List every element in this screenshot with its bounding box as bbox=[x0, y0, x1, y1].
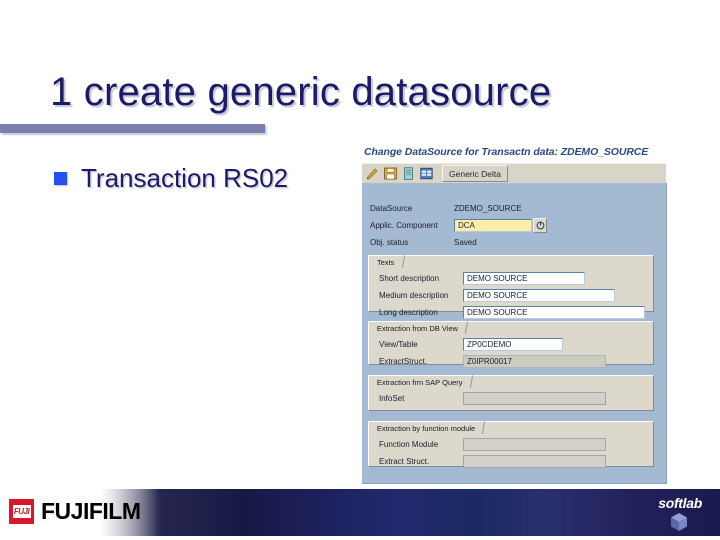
extract-struct-fm-input[interactable] bbox=[463, 455, 606, 468]
group-title: Extraction from DB View bbox=[372, 321, 468, 334]
page-title: 1 create generic datasource bbox=[50, 68, 551, 116]
field-row-applic-component: Applic. Component DCA bbox=[370, 218, 650, 232]
sap-screen-title: Change DataSource for Transactn data: ZD… bbox=[364, 146, 648, 158]
sap-screenshot-image: Change DataSource for Transactn data: ZD… bbox=[358, 146, 666, 484]
group-title: Texts bbox=[372, 255, 405, 268]
field-row-medium-description: Medium description DEMO SOURCE bbox=[379, 288, 645, 302]
field-row-extract-struct-db: ExtractStruct. Z0IPR00017 bbox=[379, 354, 645, 368]
field-value: Saved bbox=[454, 238, 477, 247]
field-label: Function Module bbox=[379, 440, 463, 449]
extract-struct-db-input[interactable]: Z0IPR00017 bbox=[463, 355, 606, 368]
infoset-input[interactable] bbox=[463, 392, 606, 405]
group-extraction-db-view: Extraction from DB View View/Table ZP0CD… bbox=[368, 321, 654, 365]
check-pencil-icon[interactable] bbox=[365, 166, 380, 181]
field-label: Long description bbox=[379, 308, 463, 317]
field-row-view-table: View/Table ZP0CDEMO bbox=[379, 337, 645, 351]
field-row-datasource: DataSource ZDEMO_SOURCE bbox=[370, 201, 650, 215]
softlab-wordmark: softlab bbox=[658, 495, 702, 511]
save-disk-icon[interactable] bbox=[383, 166, 398, 181]
group-title: Extraction by function module bbox=[372, 421, 486, 434]
field-label: Obj. status bbox=[370, 238, 454, 247]
applic-component-input[interactable]: DCA bbox=[454, 219, 532, 232]
field-label: InfoSet bbox=[379, 394, 463, 403]
view-table-input[interactable]: ZP0CDEMO bbox=[463, 338, 563, 351]
function-module-input[interactable] bbox=[463, 438, 606, 451]
group-title: Extraction frm SAP Query bbox=[372, 375, 473, 388]
field-label: Short description bbox=[379, 274, 463, 283]
fujifilm-wordmark: FUJIFILM bbox=[41, 500, 141, 523]
title-underline-rule bbox=[0, 124, 265, 133]
bullet-item-label: Transaction RS02 bbox=[81, 163, 288, 193]
field-row-function-module: Function Module bbox=[379, 437, 645, 451]
short-description-input[interactable]: DEMO SOURCE bbox=[463, 272, 585, 285]
field-row-infoset: InfoSet bbox=[379, 391, 645, 405]
fujifilm-logo: FUJI FUJIFILM bbox=[9, 499, 141, 524]
fujifilm-mark-text: FUJI bbox=[13, 505, 31, 518]
generic-delta-button[interactable]: Generic Delta bbox=[442, 165, 508, 182]
slide-footer-band: FUJI FUJIFILM softlab bbox=[0, 489, 720, 536]
field-label: Extract Struct. bbox=[379, 457, 463, 466]
group-extraction-function-module: Extraction by function module Function M… bbox=[368, 421, 654, 467]
group-texts: Texts Short description DEMO SOURCE Medi… bbox=[368, 255, 654, 312]
sap-toolbar: Generic Delta bbox=[362, 163, 666, 184]
medium-description-input[interactable]: DEMO SOURCE bbox=[463, 289, 615, 302]
softlab-logo: softlab bbox=[620, 495, 706, 533]
document-icon[interactable] bbox=[401, 166, 416, 181]
field-label: Applic. Component bbox=[370, 221, 454, 230]
field-value: ZDEMO_SOURCE bbox=[454, 204, 522, 213]
field-label: ExtractStruct. bbox=[379, 357, 463, 366]
sap-header-fields: DataSource ZDEMO_SOURCE Applic. Componen… bbox=[370, 201, 650, 252]
field-row-extract-struct-fm: Extract Struct. bbox=[379, 454, 645, 468]
table-grid-icon[interactable] bbox=[419, 166, 434, 181]
field-label: DataSource bbox=[370, 204, 454, 213]
group-extraction-sap-query: Extraction frm SAP Query InfoSet bbox=[368, 375, 654, 411]
square-bullet-icon bbox=[54, 172, 67, 185]
field-row-long-description: Long description DEMO SOURCE bbox=[379, 305, 645, 319]
field-label: Medium description bbox=[379, 291, 463, 300]
long-description-input[interactable]: DEMO SOURCE bbox=[463, 306, 645, 319]
fujifilm-mark-icon: FUJI bbox=[9, 499, 34, 524]
search-help-icon[interactable] bbox=[533, 218, 547, 233]
field-row-short-description: Short description DEMO SOURCE bbox=[379, 271, 645, 285]
field-row-obj-status: Obj. status Saved bbox=[370, 235, 650, 249]
slide-canvas: 1 create generic datasource Transaction … bbox=[0, 0, 720, 540]
field-label: View/Table bbox=[379, 340, 463, 349]
sap-form-panel: DataSource ZDEMO_SOURCE Applic. Componen… bbox=[362, 183, 667, 484]
bullet-item: Transaction RS02 bbox=[54, 163, 288, 193]
cube-icon bbox=[668, 511, 690, 536]
